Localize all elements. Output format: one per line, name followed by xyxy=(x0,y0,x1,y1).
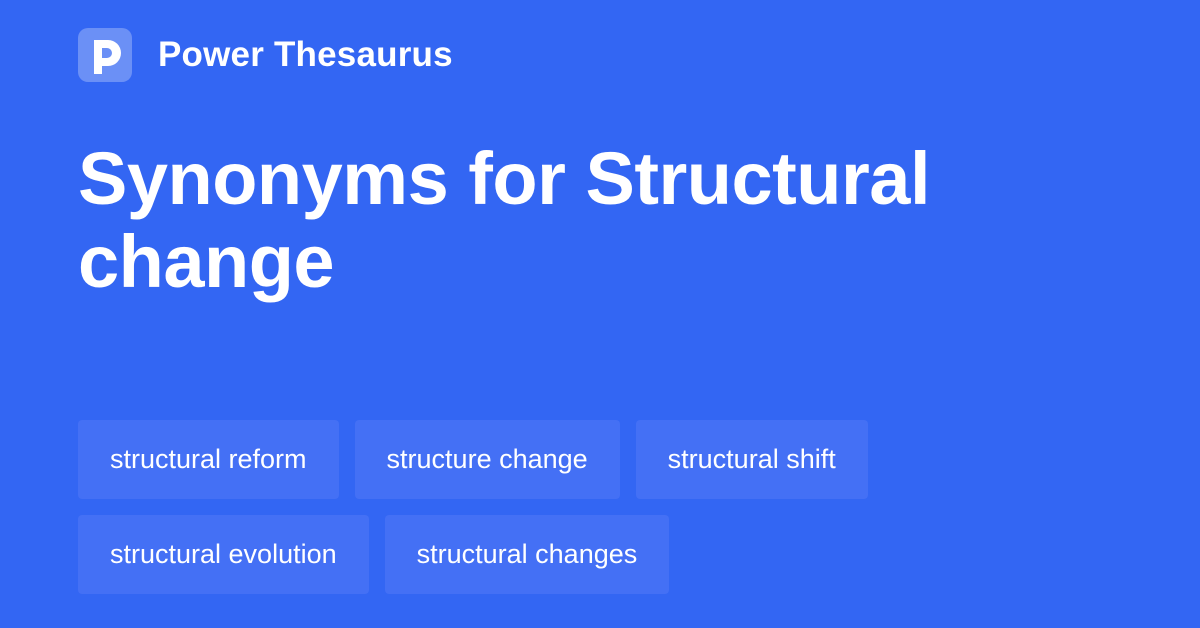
brand-header: Power Thesaurus xyxy=(78,28,453,82)
page-title: Synonyms for Structural change xyxy=(78,138,1078,304)
synonym-chip[interactable]: structural reform xyxy=(78,420,339,499)
brand-name: Power Thesaurus xyxy=(158,35,453,75)
synonym-chip[interactable]: structural shift xyxy=(636,420,868,499)
synonym-list: structural reform structure change struc… xyxy=(78,420,1138,594)
power-thesaurus-logo-icon xyxy=(78,28,132,82)
synonym-chip[interactable]: structural changes xyxy=(385,515,670,594)
share-card: Power Thesaurus Synonyms for Structural … xyxy=(0,0,1200,628)
synonym-chip[interactable]: structure change xyxy=(355,420,620,499)
synonym-chip[interactable]: structural evolution xyxy=(78,515,369,594)
